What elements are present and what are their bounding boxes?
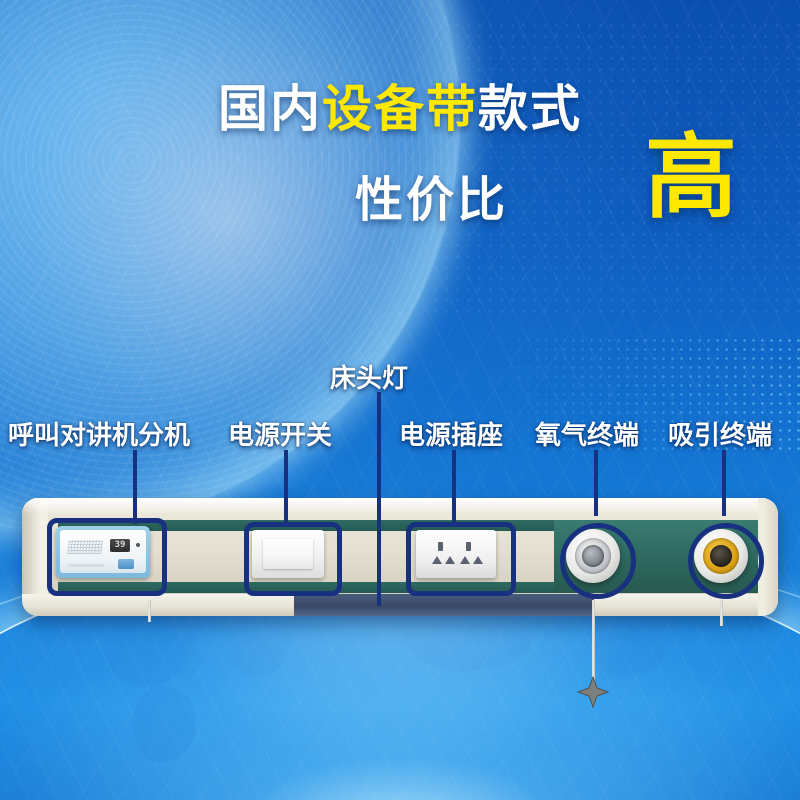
- callout-label-bedside-lamp: 床头灯: [330, 358, 408, 395]
- highlight-circle-oxygen: [560, 523, 636, 599]
- highlight-box-power-switch: [244, 522, 342, 596]
- promo-banner: 国内设备带款式 性价比 高 呼叫对讲机分机 电源开关 床头灯 电源插座 氧气终端…: [0, 0, 800, 800]
- leader-line-bedside-lamp: [377, 392, 381, 606]
- callout-label-group: 呼叫对讲机分机 电源开关 床头灯 电源插座 氧气终端 吸引终端: [0, 0, 800, 800]
- leader-line-power-switch: [284, 450, 288, 526]
- leader-line-suction: [722, 450, 726, 516]
- callout-label-oxygen: 氧气终端: [535, 415, 639, 452]
- callout-label-power-switch: 电源开关: [228, 415, 332, 452]
- callout-label-intercom: 呼叫对讲机分机: [8, 415, 190, 452]
- highlight-box-intercom: [47, 518, 167, 596]
- highlight-box-power-socket: [406, 522, 516, 596]
- highlight-circle-suction: [688, 523, 764, 599]
- leader-line-intercom: [133, 450, 137, 524]
- callout-label-power-socket: 电源插座: [399, 415, 503, 452]
- leader-line-oxygen: [594, 450, 598, 516]
- leader-line-power-socket: [452, 450, 456, 526]
- callout-label-suction: 吸引终端: [668, 415, 772, 452]
